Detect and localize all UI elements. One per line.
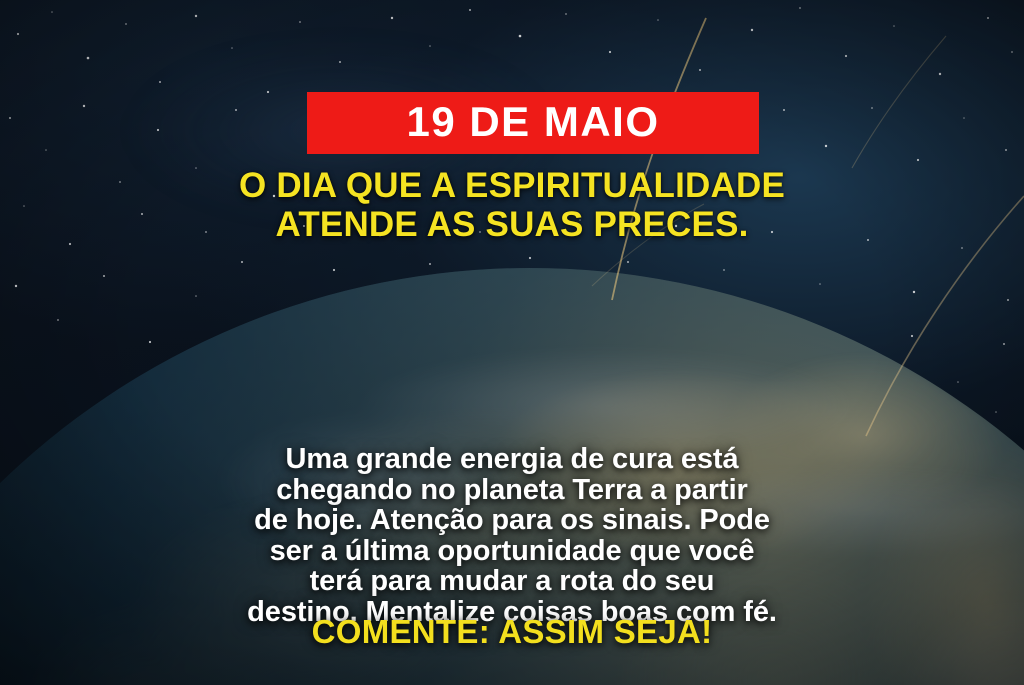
body-copy: Uma grande energia de cura está chegando… <box>52 444 972 627</box>
date-banner: 19 DE MAIO <box>307 92 759 154</box>
body-line-5: terá para mudar a rota do seu <box>52 566 972 597</box>
body-line-2: chegando no planeta Terra a partir <box>52 475 972 506</box>
headline: O DIA QUE A ESPIRITUALIDADE ATENDE AS SU… <box>0 166 1024 244</box>
headline-line-1: O DIA QUE A ESPIRITUALIDADE <box>0 166 1024 205</box>
poster-content: 19 DE MAIO O DIA QUE A ESPIRITUALIDADE A… <box>0 0 1024 685</box>
call-to-action: COMENTE: ASSIM SEJA! <box>0 613 1024 651</box>
date-banner-text: 19 DE MAIO <box>406 101 659 143</box>
body-line-1: Uma grande energia de cura está <box>52 444 972 475</box>
poster-canvas: 19 DE MAIO O DIA QUE A ESPIRITUALIDADE A… <box>0 0 1024 685</box>
body-line-4: ser a última oportunidade que você <box>52 536 972 567</box>
body-line-3: de hoje. Atenção para os sinais. Pode <box>52 505 972 536</box>
headline-line-2: ATENDE AS SUAS PRECES. <box>0 205 1024 244</box>
